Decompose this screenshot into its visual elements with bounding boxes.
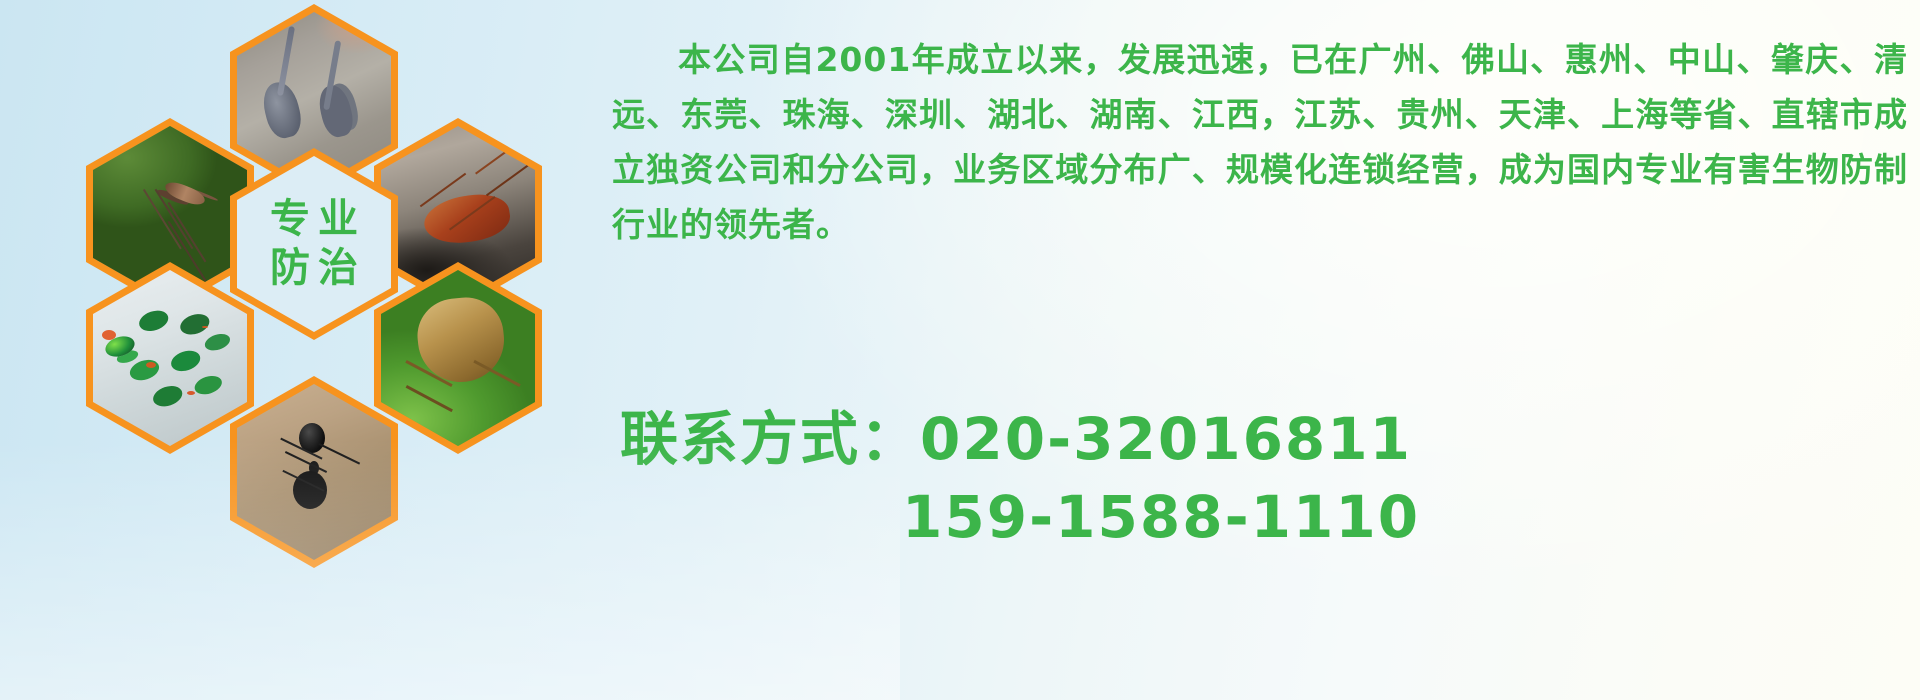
contact-line-secondary[interactable]: 159-1588-1110 xyxy=(620,478,1900,556)
company-description: 本公司自2001年成立以来，发展迅速，已在广州、佛山、惠州、中山、肇庆、清远、东… xyxy=(612,32,1908,252)
contact-line-primary[interactable]: 联系方式：020-32016811 xyxy=(620,400,1900,478)
logo-text-line-2: 防治 xyxy=(262,244,366,293)
contact-block: 联系方式：020-32016811 159-1588-1110 xyxy=(620,400,1900,556)
pest-control-banner: 专业 防治 本公司自2001年成立以来，发展迅速，已在广州、佛山、惠州、中山、肇… xyxy=(0,0,1920,700)
stinkbug-photo xyxy=(381,270,535,446)
hex-photo-ant xyxy=(230,376,398,568)
flies-photo xyxy=(93,270,247,446)
hex-logo-center: 专业 防治 xyxy=(230,148,398,340)
honeycomb-image-cluster: 专业 防治 xyxy=(78,0,578,566)
hex-photo-flies xyxy=(86,262,254,454)
logo-text-line-1: 专业 xyxy=(262,195,366,244)
company-description-text: 本公司自2001年成立以来，发展迅速，已在广州、佛山、惠州、中山、肇庆、清远、东… xyxy=(612,32,1908,252)
hex-photo-stinkbug xyxy=(374,262,542,454)
ant-photo xyxy=(237,384,391,560)
